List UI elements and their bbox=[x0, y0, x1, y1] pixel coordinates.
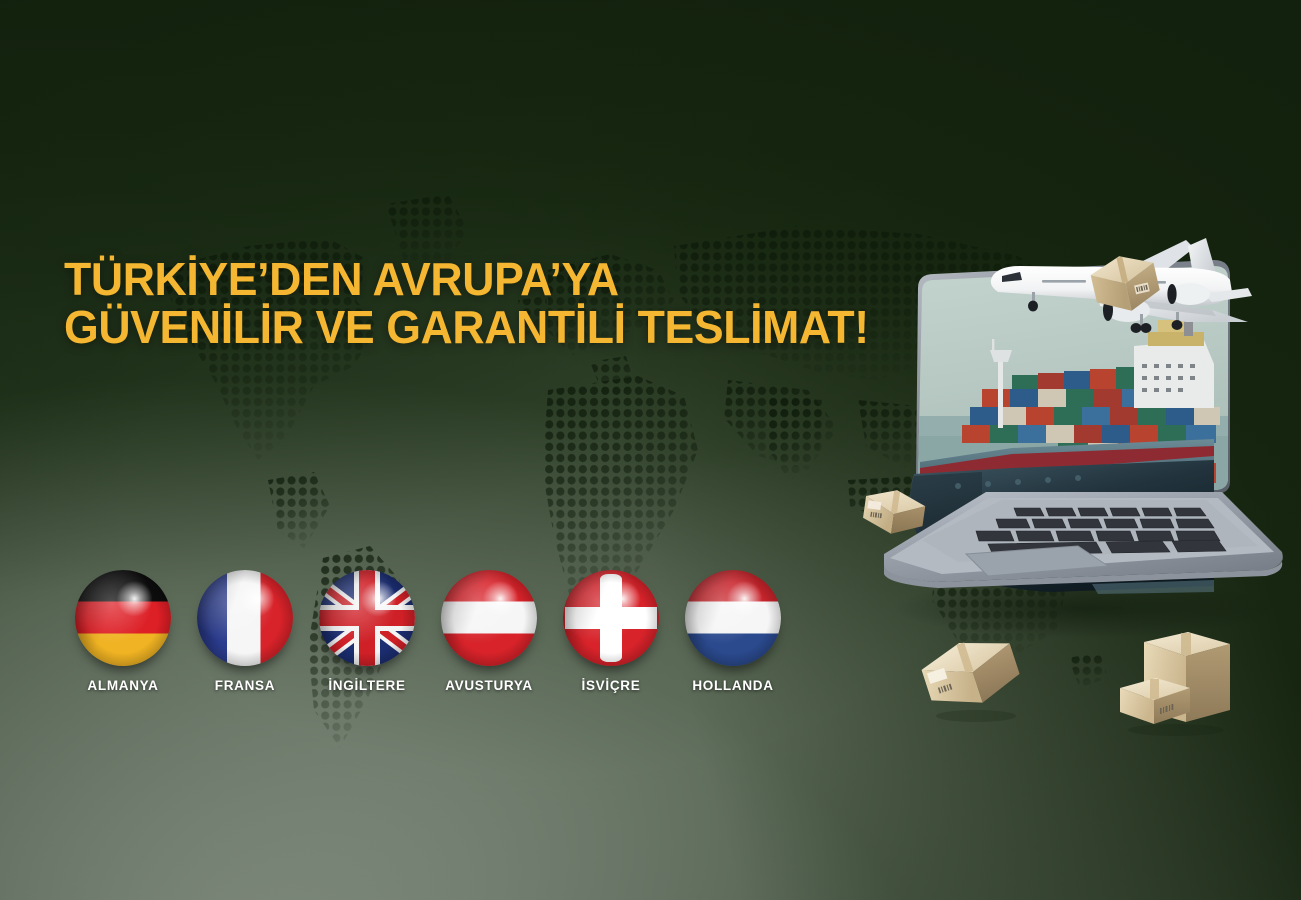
delivery-banner: TÜRKİYE’DEN AVRUPA’YA GÜVENİLİR VE GARAN… bbox=[0, 0, 1301, 900]
country-item-fransa[interactable]: FRANSA bbox=[190, 570, 300, 693]
headline-line-2: GÜVENİLİR VE GARANTİLİ TESLİMAT! bbox=[64, 303, 937, 351]
country-item-hollanda[interactable]: HOLLANDA bbox=[678, 570, 788, 693]
page-title: TÜRKİYE’DEN AVRUPA’YA GÜVENİLİR VE GARAN… bbox=[64, 255, 937, 351]
country-label: ALMANYA bbox=[68, 678, 178, 693]
netherlands-flag-sphere[interactable] bbox=[685, 570, 781, 666]
headline-line-1: TÜRKİYE’DEN AVRUPA’YA bbox=[64, 253, 619, 305]
country-label: FRANSA bbox=[190, 678, 300, 693]
country-label: HOLLANDA bbox=[678, 678, 788, 693]
austria-flag-sphere[interactable] bbox=[441, 570, 537, 666]
parcel-box-left bbox=[858, 484, 930, 542]
country-label: AVUSTURYA bbox=[434, 678, 544, 693]
country-label: İSVİÇRE bbox=[556, 678, 666, 693]
france-flag-sphere[interactable] bbox=[197, 570, 293, 666]
parcel-box-floating bbox=[918, 632, 1030, 724]
country-label: İNGİLTERE bbox=[312, 678, 422, 693]
country-item-almanya[interactable]: ALMANYA bbox=[68, 570, 178, 693]
united-kingdom-flag-sphere[interactable] bbox=[319, 570, 415, 666]
country-item-avusturya[interactable]: AVUSTURYA bbox=[434, 570, 544, 693]
country-flags-row: ALMANYA FRANSA İNGİLTERE bbox=[64, 570, 864, 700]
parcel-box-top bbox=[1081, 246, 1165, 318]
country-item-isvicre[interactable]: İSVİÇRE bbox=[556, 570, 666, 693]
parcel-box-stack bbox=[1114, 626, 1238, 736]
country-item-ingiltere[interactable]: İNGİLTERE bbox=[312, 570, 422, 693]
switzerland-flag-sphere[interactable] bbox=[563, 570, 659, 666]
germany-flag-sphere[interactable] bbox=[75, 570, 171, 666]
